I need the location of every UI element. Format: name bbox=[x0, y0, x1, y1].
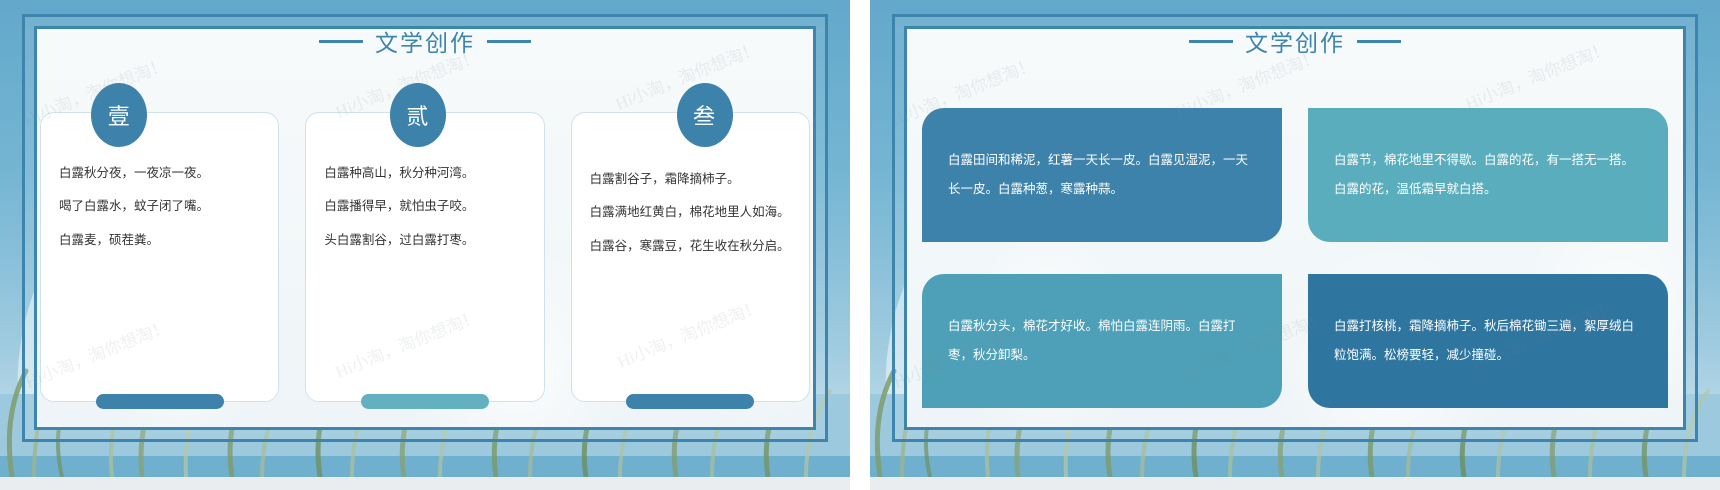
card-line: 白露割谷子，霜降摘柿子。 bbox=[590, 165, 791, 194]
slide-right-title: 文学创作 bbox=[870, 24, 1720, 58]
card-line: 白露谷，寒露豆，花生收在秋分启。 bbox=[590, 232, 791, 261]
card-line: 白露秋分夜，一夜凉一夜。 bbox=[59, 159, 260, 188]
card-badge: 贰 bbox=[390, 83, 446, 147]
title-rule-right-icon bbox=[487, 40, 531, 43]
card-line: 白露麦，硕茬粪。 bbox=[59, 226, 260, 255]
box-item[interactable]: 白露打核桃，霜降摘柿子。秋后棉花锄三遍，絮厚绒白粒饱满。松榜要轻，减少撞碰。 bbox=[1308, 274, 1668, 408]
card-accent-bar bbox=[626, 394, 754, 409]
card-line: 头白露割谷，过白露打枣。 bbox=[324, 226, 525, 255]
title-text: 文学创作 bbox=[1245, 24, 1345, 58]
card-body: 白露秋分夜，一夜凉一夜。 喝了白露水，蚊子闭了嘴。 白露麦，硕茬粪。 bbox=[41, 113, 278, 273]
card-item[interactable]: 壹 白露秋分夜，一夜凉一夜。 喝了白露水，蚊子闭了嘴。 白露麦，硕茬粪。 bbox=[40, 112, 279, 402]
box-text: 白露打核桃，霜降摘柿子。秋后棉花锄三遍，絮厚绒白粒饱满。松榜要轻，减少撞碰。 bbox=[1334, 312, 1642, 370]
presentation-stage: 文学创作 壹 白露秋分夜，一夜凉一夜。 喝了白露水，蚊子闭了嘴。 白露麦，硕茬粪… bbox=[0, 0, 1720, 490]
slide-left-title: 文学创作 bbox=[0, 24, 850, 58]
card-item[interactable]: 叁 白露割谷子，霜降摘柿子。 白露满地红黄白，棉花地里人如海。 白露谷，寒露豆，… bbox=[571, 112, 810, 402]
card-line: 白露种高山，秋分种河湾。 bbox=[324, 159, 525, 188]
card-badge: 壹 bbox=[91, 83, 147, 147]
box-list: 白露田间和稀泥，红薯一天长一皮。白露见湿泥，一天长一皮。白露种葱，寒露种蒜。 白… bbox=[922, 108, 1668, 408]
title-rule-right-icon bbox=[1357, 40, 1401, 43]
title-rule-left-icon bbox=[319, 40, 363, 43]
card-item[interactable]: 贰 白露种高山，秋分种河湾。 白露播得早，就怕虫子咬。 头白露割谷，过白露打枣。 bbox=[305, 112, 544, 402]
card-line: 喝了白露水，蚊子闭了嘴。 bbox=[59, 192, 260, 221]
box-text: 白露田间和稀泥，红薯一天长一皮。白露见湿泥，一天长一皮。白露种葱，寒露种蒜。 bbox=[948, 146, 1256, 204]
slide-right: 文学创作 白露田间和稀泥，红薯一天长一皮。白露见湿泥，一天长一皮。白露种葱，寒露… bbox=[870, 0, 1720, 490]
card-accent-bar bbox=[361, 394, 489, 409]
card-line: 白露满地红黄白，棉花地里人如海。 bbox=[590, 198, 791, 227]
title-text: 文学创作 bbox=[375, 24, 475, 58]
box-item[interactable]: 白露节，棉花地里不得歇。白露的花，有一搭无一搭。白露的花，温低霜早就白搭。 bbox=[1308, 108, 1668, 242]
card-accent-bar bbox=[96, 394, 224, 409]
box-item[interactable]: 白露田间和稀泥，红薯一天长一皮。白露见湿泥，一天长一皮。白露种葱，寒露种蒜。 bbox=[922, 108, 1282, 242]
box-item[interactable]: 白露秋分头，棉花才好收。棉怕白露连阴雨。白露打枣，秋分卸梨。 bbox=[922, 274, 1282, 408]
card-line: 白露播得早，就怕虫子咬。 bbox=[324, 192, 525, 221]
box-text: 白露节，棉花地里不得歇。白露的花，有一搭无一搭。白露的花，温低霜早就白搭。 bbox=[1334, 146, 1642, 204]
box-text: 白露秋分头，棉花才好收。棉怕白露连阴雨。白露打枣，秋分卸梨。 bbox=[948, 312, 1256, 370]
card-badge: 叁 bbox=[677, 83, 733, 147]
card-list: 壹 白露秋分夜，一夜凉一夜。 喝了白露水，蚊子闭了嘴。 白露麦，硕茬粪。 贰 白… bbox=[40, 112, 810, 402]
title-rule-left-icon bbox=[1189, 40, 1233, 43]
slide-left: 文学创作 壹 白露秋分夜，一夜凉一夜。 喝了白露水，蚊子闭了嘴。 白露麦，硕茬粪… bbox=[0, 0, 850, 490]
